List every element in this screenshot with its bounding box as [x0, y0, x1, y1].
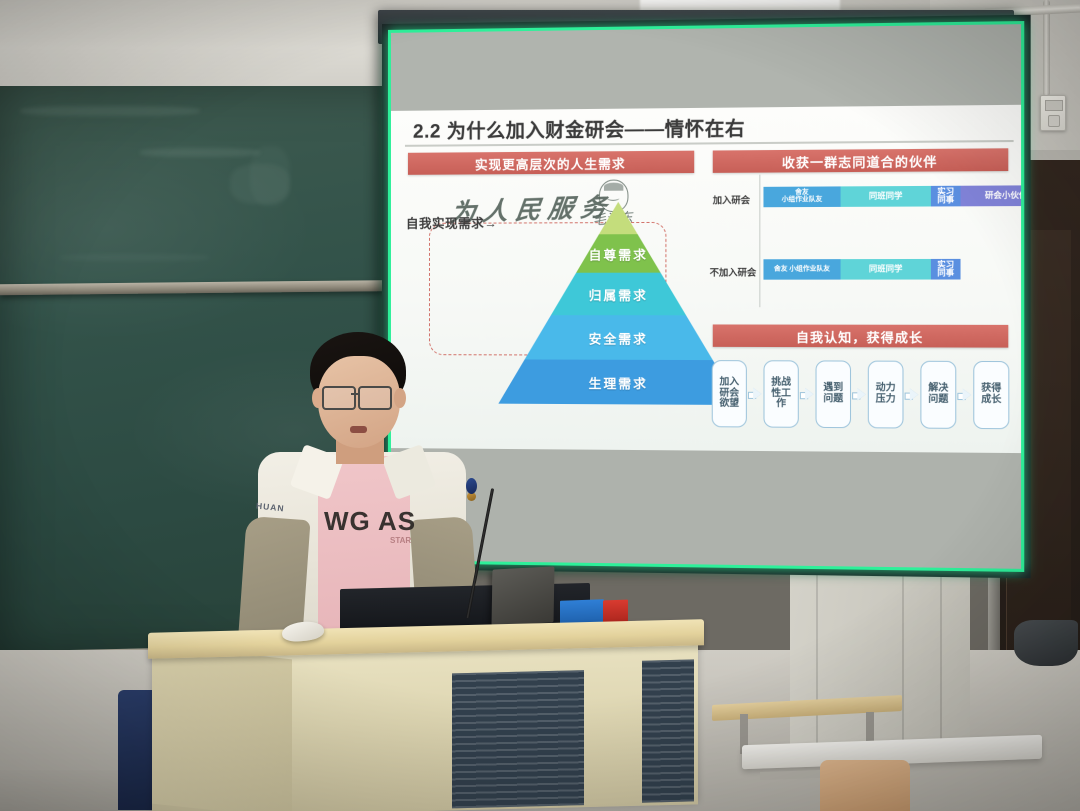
cohort-segment-0-2: 实习 同事 [931, 186, 961, 207]
growth-section-header: 自我认知，获得成长 [713, 324, 1009, 347]
chair-backrest [820, 760, 910, 811]
cohort-bar-join: 舍友 小组作业队友同班同学实习 同事研会小伙伴 [763, 185, 1021, 207]
eyeglasses-bridge [351, 393, 359, 395]
eyeglasses-right-lens [358, 386, 392, 410]
flow-arrow-5 [957, 389, 972, 401]
flow-arrow-4 [905, 388, 920, 400]
flow-node-1: 挑战 性工 作 [763, 360, 798, 428]
eyeglasses-left-lens [322, 386, 356, 410]
flow-arrow-2 [800, 388, 815, 400]
self-actualization-label: 自我实现需求→ [406, 212, 497, 231]
tshirt-graphic-text: WG AS [324, 506, 416, 537]
pyramid-level-1: 自尊需求 [498, 234, 739, 273]
presentation-slide: 2.2 为什么加入财金研会——情怀在右 实现更高层次的人生需求 收获一群志同道合… [391, 105, 1021, 453]
flow-node-2: 遇到 问题 [815, 360, 851, 428]
classroom-partition [790, 560, 970, 750]
flow-node-4: 解决 问题 [920, 361, 956, 429]
flow-node-3: 动力 压力 [868, 361, 904, 429]
ear-right [394, 388, 406, 408]
cohort-segment-0-0: 舍友 小组作业队友 [763, 186, 840, 207]
pyramid-level-0 [498, 201, 739, 234]
chair-seat [1014, 620, 1078, 666]
right-section-header: 收获一群志同道合的伙伴 [713, 148, 1009, 173]
flow-node-5: 获得 成长 [973, 361, 1009, 429]
slide-title: 2.2 为什么加入财金研会——情怀在右 [413, 114, 745, 144]
left-section-header: 实现更高层次的人生需求 [408, 151, 694, 175]
pyramid-level-2: 归属需求 [498, 273, 739, 316]
flow-node-0: 加入 研会 欲望 [712, 360, 747, 427]
lectern-vent-panel [452, 670, 584, 808]
cohort-segment-1-1: 同班同学 [841, 259, 931, 280]
wall-power-outlet [1040, 95, 1066, 131]
flow-arrow-3 [852, 388, 867, 400]
bar-axis [759, 175, 760, 308]
screen-surface: 2.2 为什么加入财金研会——情怀在右 实现更高层次的人生需求 收获一群志同道合… [391, 24, 1021, 569]
laptop [492, 566, 555, 625]
row-label-nojoin: 不加入研会 [710, 265, 757, 278]
lectern-vent-panel-right [642, 659, 694, 802]
cohort-segment-1-0: 舍友 小组作业队友 [763, 259, 840, 280]
microphone-head [466, 478, 477, 494]
pyramid-level-4: 生理需求 [498, 359, 739, 405]
cohort-segment-0-1: 同班同学 [841, 186, 931, 207]
cohort-bar-nojoin: 舍友 小组作业队友同班同学实习 同事 [763, 259, 960, 280]
lectern-side [152, 645, 292, 811]
flow-arrow-1 [748, 388, 763, 400]
growth-flow-chart: 加入 研会 欲望挑战 性工 作遇到 问题动力 压力解决 问题获得 成长 [712, 358, 1016, 431]
row-label-join: 加入研会 [713, 193, 750, 206]
pyramid-level-3: 安全需求 [498, 315, 739, 360]
mouth [350, 426, 367, 433]
cohort-segment-1-2: 实习 同事 [931, 259, 961, 280]
maslow-pyramid: 自我实现需求→ 自尊需求 归属需求 安全需求 生理需求 [498, 201, 739, 405]
letterbox-bottom [391, 448, 1021, 569]
cohort-segment-0-3: 研会小伙伴 [961, 185, 1022, 206]
tshirt-subtext: STAR [390, 536, 411, 545]
letterbox-top [391, 24, 1021, 111]
classroom-photo: 2.2 为什么加入财金研会——情怀在右 实现更高层次的人生需求 收获一群志同道合… [0, 0, 1080, 811]
